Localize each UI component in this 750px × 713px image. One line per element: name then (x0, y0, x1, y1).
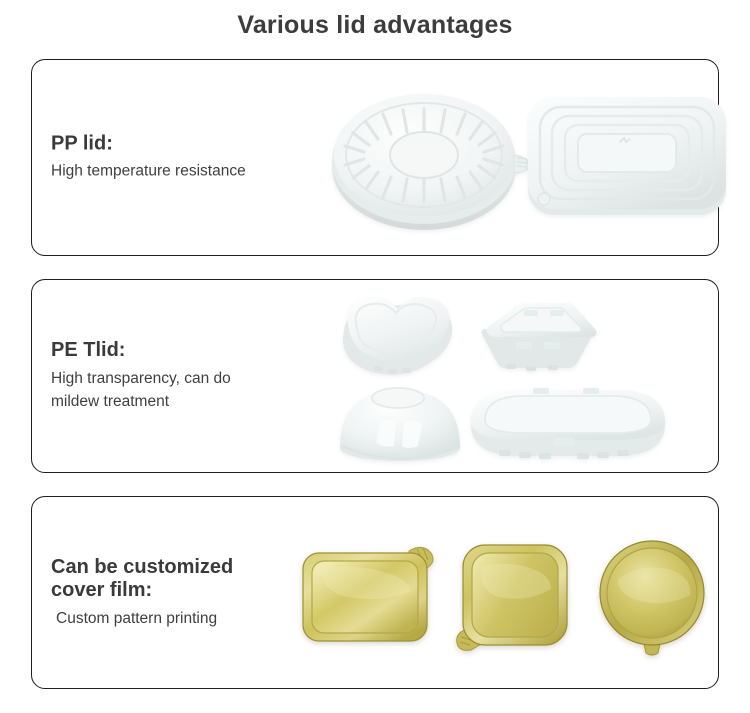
infographic-page: Various lid advantages PP lid: High temp… (0, 0, 750, 713)
panel-heading: Can be customized cover film: (51, 555, 311, 602)
square-gold-cover-film-image (455, 541, 575, 656)
heart-shaped-pe-lid-image (330, 290, 470, 380)
panel-heading: PE Tlid: (51, 339, 311, 363)
page-title: Various lid advantages (0, 11, 750, 40)
panel-text-block: PP lid: High temperature resistance (51, 132, 311, 183)
round-pp-lid-image (328, 83, 528, 235)
panel-text-block: Can be customized cover film: Custom pat… (51, 555, 311, 629)
dome-pe-lid-image (332, 378, 468, 464)
feature-panel-pp-lid: PP lid: High temperature resistance (31, 59, 719, 256)
oval-pe-lid-image (465, 384, 671, 464)
round-gold-cover-film-image (590, 539, 715, 657)
rectangular-pp-lid-image (520, 85, 734, 225)
product-image-group (302, 60, 712, 255)
product-image-group (302, 497, 712, 688)
rectangular-gold-cover-film-image (297, 539, 447, 649)
square-pe-lid-image (474, 290, 599, 378)
panel-description: Custom pattern printing (51, 606, 311, 629)
product-image-group (302, 280, 712, 472)
panel-text-block: PE Tlid: High transparency, can do milde… (51, 339, 311, 413)
panel-description: High transparency, can do mildew treatme… (51, 367, 311, 414)
panel-heading: PP lid: (51, 132, 311, 156)
panel-description: High temperature resistance (51, 160, 311, 183)
feature-panel-cover-film: Can be customized cover film: Custom pat… (31, 496, 719, 689)
feature-panel-pe-lid: PE Tlid: High transparency, can do milde… (31, 279, 719, 473)
